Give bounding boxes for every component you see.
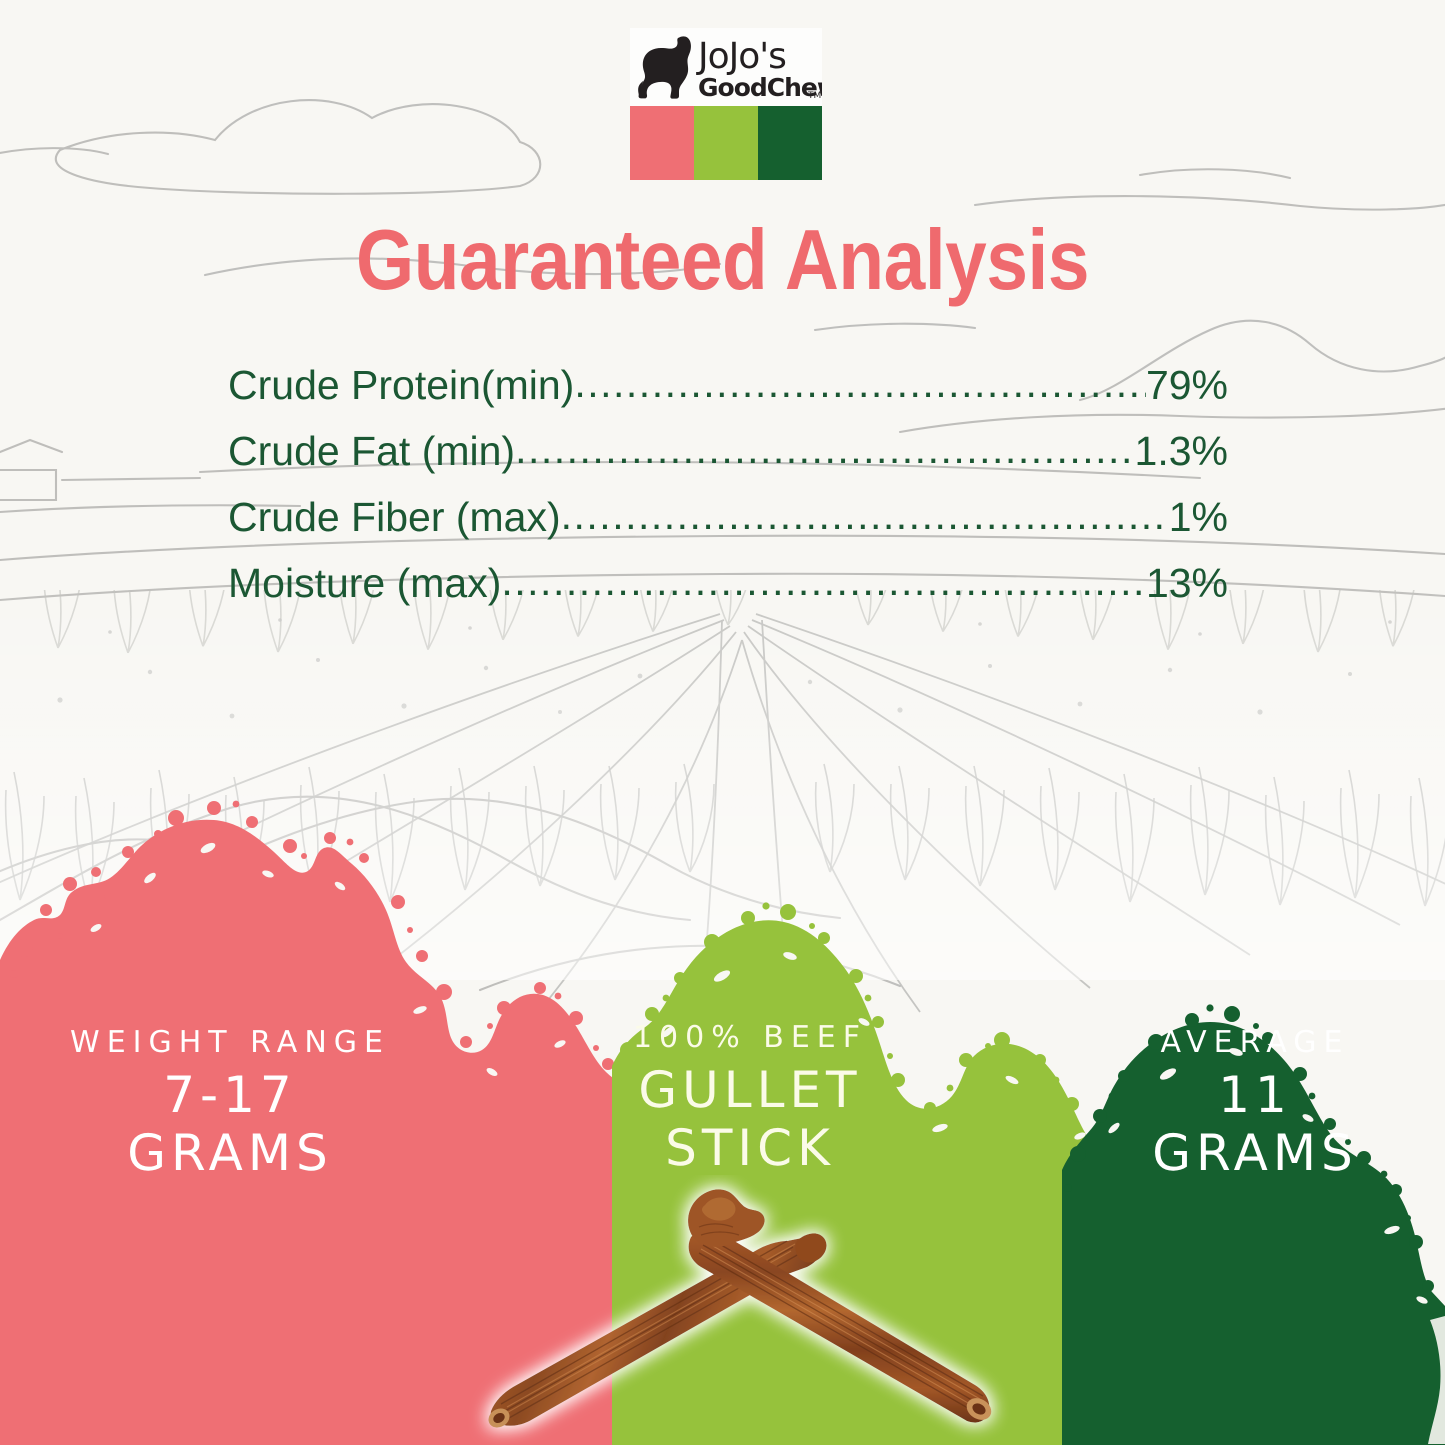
logo-color-swatches [630, 106, 822, 180]
analysis-leader-dots: ........................................… [574, 350, 1146, 416]
analysis-row: Moisture (max) .........................… [228, 550, 1228, 616]
analysis-row: Crude Protein(min) .....................… [228, 352, 1228, 418]
panel-line-1: AVERAGE [1060, 1020, 1445, 1066]
analysis-value: 1.3% [1135, 418, 1228, 484]
logo-text-mark: JoJo's GoodChews TM [696, 28, 822, 106]
product-image-gullet-sticks [455, 1175, 1025, 1445]
gullet-stick-2 [688, 1189, 995, 1424]
panel-average-weight-text: AVERAGE 11 GRAMS [1060, 1020, 1445, 1182]
analysis-label: Crude Fat (min) [228, 418, 515, 484]
panel-weight-range-text: WEIGHT RANGE 7-17 GRAMS [20, 1020, 440, 1182]
analysis-label: Moisture (max) [228, 550, 501, 616]
guaranteed-analysis-list: Crude Protein(min) .....................… [228, 352, 1228, 616]
logo-swatch-forest [758, 106, 822, 180]
logo-swatch-green [694, 106, 758, 180]
panel-line-3: GRAMS [1060, 1124, 1445, 1182]
logo-line2: GoodChews [698, 73, 822, 102]
analysis-value: 1% [1169, 484, 1228, 550]
logo-swatch-coral [630, 106, 694, 180]
analysis-leader-dots: ........................................… [515, 416, 1134, 482]
logo-wordmark-area: JoJo's GoodChews TM [630, 28, 822, 106]
trademark-mark: TM [807, 91, 821, 101]
infographic-canvas: JoJo's GoodChews TM Guaranteed Analysis … [0, 0, 1445, 1445]
panel-line-3: GRAMS [20, 1124, 440, 1182]
dog-silhouette-icon [638, 32, 700, 102]
analysis-row: Crude Fiber (max) ......................… [228, 484, 1228, 550]
analysis-label: Crude Protein(min) [228, 352, 574, 418]
panel-line-2: 11 [1060, 1066, 1445, 1124]
analysis-value: 13% [1146, 550, 1228, 616]
panel-product-type-text: 100% BEEF GULLET STICK [540, 1015, 960, 1177]
panel-line-1: 100% BEEF [540, 1015, 960, 1061]
logo-line1: JoJo's [696, 36, 786, 77]
analysis-label: Crude Fiber (max) [228, 484, 561, 550]
panel-line-3: STICK [540, 1119, 960, 1177]
analysis-leader-dots: ........................................… [501, 548, 1146, 614]
brand-logo: JoJo's GoodChews TM [630, 28, 822, 180]
page-title: Guaranteed Analysis [87, 218, 1359, 303]
analysis-row: Crude Fat (min) ........................… [228, 418, 1228, 484]
panel-line-1: WEIGHT RANGE [20, 1020, 440, 1066]
panel-line-2: GULLET [540, 1061, 960, 1119]
gullet-stick-1 [485, 1233, 827, 1431]
panel-line-2: 7-17 [20, 1066, 440, 1124]
analysis-leader-dots: ........................................… [561, 482, 1169, 548]
analysis-value: 79% [1146, 352, 1228, 418]
